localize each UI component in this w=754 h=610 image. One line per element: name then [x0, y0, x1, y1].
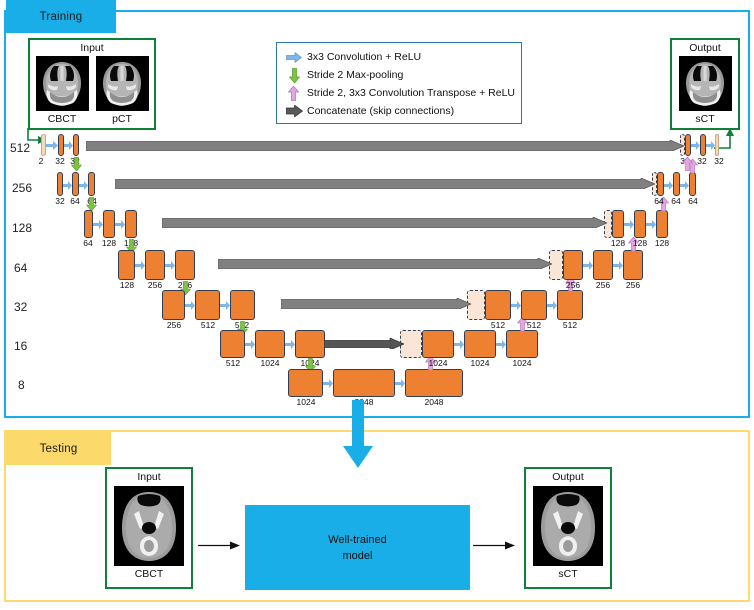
conv-arrow-icon	[583, 261, 593, 270]
dec512-block-3	[715, 134, 719, 156]
conv-arrow-icon	[46, 141, 58, 150]
enc64-block-1	[118, 250, 135, 280]
testing-input-title: Input	[137, 469, 160, 484]
conv-arrow-icon	[285, 340, 295, 349]
dec32-block-2	[521, 290, 547, 320]
conv-arrow-icon	[547, 301, 557, 310]
cbct-scan-thumbnail	[36, 56, 89, 111]
bottleneck-ch-3: 2048	[419, 397, 449, 407]
dec128-ch-2: 128	[630, 238, 650, 248]
skip-connection-128	[162, 217, 607, 228]
testing-output-title: Output	[552, 469, 584, 484]
training-tag: Training	[6, 0, 116, 33]
resolution-label-512: 512	[10, 141, 30, 155]
dec64-block-3	[623, 250, 643, 280]
resolution-label-128: 128	[12, 221, 32, 235]
skip-connection-256	[115, 178, 655, 189]
model-box-line1: Well-trained	[328, 532, 387, 548]
upconv-arrow-icon	[682, 157, 693, 171]
legend-item-conv: 3x3 Convolution + ReLU	[284, 48, 515, 66]
testing-tag-label: Testing	[40, 443, 78, 455]
enc64-ch-1: 128	[117, 280, 137, 290]
enc16-block-2	[255, 330, 285, 358]
training-output-card: Output sCT	[670, 38, 740, 130]
legend-box: 3x3 Convolution + ReLU Stride 2 Max-pool…	[276, 42, 522, 124]
dec64-block-1	[563, 250, 583, 280]
enc32-block-2	[195, 290, 220, 320]
model-box-line2: model	[343, 548, 373, 564]
dec64-ch-2: 256	[593, 280, 613, 290]
legend-item-upconv: Stride 2, 3x3 Convolution Transpose + Re…	[284, 84, 515, 102]
enc128-block-1	[84, 210, 93, 238]
enc256-ch-2: 64	[66, 196, 84, 206]
legend-label-upconv: Stride 2, 3x3 Convolution Transpose + Re…	[304, 87, 515, 99]
dec32-block-1	[485, 290, 511, 320]
testing-sct-caption: sCT	[558, 566, 577, 581]
enc64-block-3	[175, 250, 195, 280]
conv-arrow-icon	[135, 261, 145, 270]
pct-scan-thumbnail	[96, 56, 149, 111]
conv-arrow-icon	[115, 220, 125, 229]
grey-right-arrow-icon	[284, 105, 304, 117]
sct-caption: sCT	[695, 111, 714, 126]
dec128-ch-3: 128	[652, 238, 672, 248]
dec128-ch-1: 128	[608, 238, 628, 248]
well-trained-model-box: Well-trained model	[245, 505, 470, 590]
enc64-block-2	[145, 250, 165, 280]
dec512-ch-3: 32	[710, 156, 728, 166]
conv-arrow-icon	[613, 261, 623, 270]
testing-tag: Testing	[6, 432, 111, 465]
testing-output-card: Output sCT	[524, 467, 612, 589]
dec256-ch-2: 64	[667, 196, 685, 206]
enc256-block-2	[72, 172, 79, 196]
legend-label-pool: Stride 2 Max-pooling	[304, 69, 403, 81]
training-input-title: Input	[80, 40, 103, 55]
dec64-block-2	[593, 250, 613, 280]
enc128-block-3	[125, 210, 137, 238]
pct-caption: pCT	[96, 111, 149, 126]
resolution-label-256: 256	[12, 181, 32, 195]
dec256-block-2	[673, 172, 680, 196]
dec16-ch-2: 1024	[465, 358, 495, 368]
resolution-label-32: 32	[14, 300, 27, 314]
skip-connection-32	[281, 298, 471, 309]
dec128-block-1	[612, 210, 624, 238]
dec128-block-3	[656, 210, 668, 238]
enc128-ch-2: 128	[99, 238, 119, 248]
conv-arrow-icon	[496, 340, 506, 349]
conv-arrow-icon	[79, 181, 88, 190]
dec16-block-3	[506, 330, 538, 358]
cbct-caption: CBCT	[36, 111, 89, 126]
dec32-ch-2: 512	[523, 320, 545, 330]
conv-arrow-icon	[323, 379, 333, 388]
purple-up-arrow-icon	[284, 86, 304, 101]
legend-item-pool: Stride 2 Max-pooling	[284, 66, 515, 84]
testing-sct-thumbnail	[533, 486, 603, 566]
dec128-block-2	[634, 210, 646, 238]
enc16-block-1	[220, 330, 245, 358]
training-output-title: Output	[689, 40, 721, 55]
bottleneck-ch-1: 1024	[291, 397, 321, 407]
resolution-label-16: 16	[14, 339, 27, 353]
conv-arrow-icon	[395, 379, 405, 388]
dec64-ch-1: 256	[563, 280, 583, 290]
testing-input-to-model-arrow	[198, 540, 242, 552]
enc128-ch-1: 64	[79, 238, 97, 248]
enc16-ch-1: 512	[222, 358, 244, 368]
pool-arrow-icon	[86, 197, 97, 211]
training-tag-label: Training	[40, 11, 83, 23]
dec256-block-1	[657, 172, 664, 196]
testing-input-card: Input CBCT	[105, 467, 193, 589]
legend-label-conv: 3x3 Convolution + ReLU	[304, 51, 421, 63]
skip-connection-64	[218, 258, 552, 269]
conv-arrow-icon	[664, 181, 673, 190]
enc512-block-3	[73, 134, 79, 156]
bottleneck-block-2	[333, 369, 395, 397]
conv-arrow-icon	[64, 141, 73, 150]
pool-arrow-icon	[71, 157, 82, 171]
conv-arrow-icon	[165, 261, 175, 270]
dec256-ch-1: 64	[650, 196, 668, 206]
dec256-ch-3: 64	[684, 196, 702, 206]
enc16-block-3	[295, 330, 325, 358]
dec32-ch-3: 512	[559, 320, 581, 330]
blue-right-arrow-icon	[284, 52, 304, 63]
dec64-ch-3: 256	[623, 280, 643, 290]
dec256-block-3	[689, 172, 696, 196]
conv-arrow-icon	[63, 181, 72, 190]
enc512-ch-1: 2	[34, 156, 48, 166]
conv-arrow-icon	[245, 340, 255, 349]
sct-scan-thumbnail	[679, 56, 732, 111]
enc32-block-3	[230, 290, 255, 320]
enc256-block-3	[88, 172, 95, 196]
testing-cbct-caption: CBCT	[135, 566, 164, 581]
legend-item-concat: Concatenate (skip connections)	[284, 102, 515, 120]
resolution-label-64: 64	[14, 261, 27, 275]
conv-arrow-icon	[511, 301, 521, 310]
dec16-ch-3: 1024	[507, 358, 537, 368]
training-input-card: Input	[28, 38, 156, 130]
enc32-ch-2: 512	[197, 320, 219, 330]
conv-arrow-icon	[454, 340, 464, 349]
bottleneck-block-1	[288, 369, 323, 397]
dec16-block-2	[464, 330, 496, 358]
dec32-ch-1: 512	[487, 320, 509, 330]
enc64-ch-2: 256	[145, 280, 165, 290]
enc16-ch-2: 1024	[256, 358, 284, 368]
enc32-block-1	[162, 290, 185, 320]
enc128-block-2	[103, 210, 115, 238]
testing-cbct-thumbnail	[114, 486, 184, 566]
dec16-ch-1: 1024	[423, 358, 453, 368]
dec32-block-3	[557, 290, 583, 320]
training-input-images	[36, 55, 149, 111]
bottleneck-block-3	[405, 369, 463, 397]
conv-arrow-icon	[646, 220, 656, 229]
testing-model-to-output-arrow	[473, 540, 517, 552]
dec512-ch-2: 32	[693, 156, 711, 166]
enc32-ch-1: 256	[163, 320, 185, 330]
conv-arrow-icon	[185, 301, 195, 310]
green-down-arrow-icon	[284, 68, 304, 83]
training-to-testing-arrow	[340, 400, 376, 468]
conv-arrow-icon	[691, 141, 700, 150]
conv-arrow-icon	[220, 301, 230, 310]
resolution-label-8: 8	[18, 378, 25, 392]
skip-connection-512	[86, 140, 684, 151]
legend-label-concat: Concatenate (skip connections)	[304, 105, 454, 117]
conv-arrow-icon	[680, 181, 689, 190]
conv-arrow-icon	[706, 141, 715, 150]
skip-connection-16	[324, 338, 404, 349]
conv-arrow-icon	[93, 220, 103, 229]
conv-arrow-icon	[624, 220, 634, 229]
dec16-block-1	[422, 330, 454, 358]
